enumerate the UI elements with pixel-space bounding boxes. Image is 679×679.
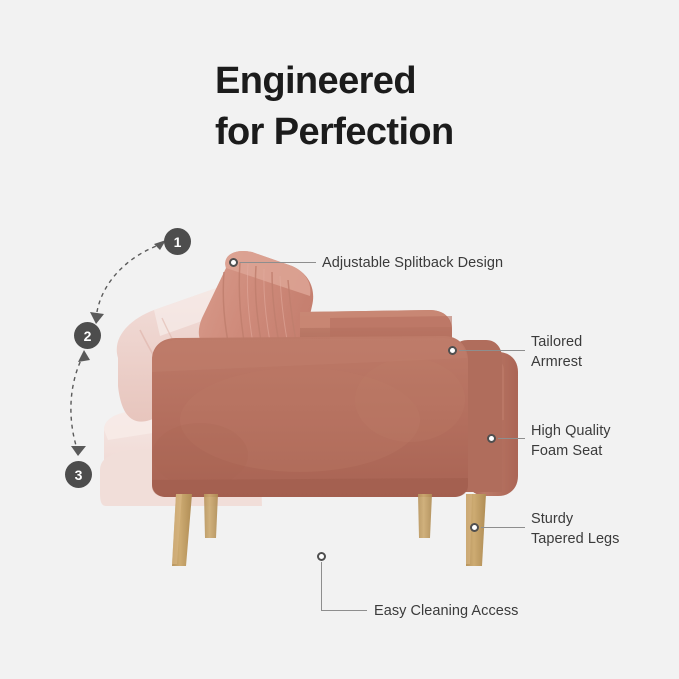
infographic-canvas: Engineered for Perfection: [0, 0, 679, 679]
callout-marker-foam-seat[interactable]: [487, 434, 496, 443]
callout-marker-tapered-legs[interactable]: [470, 523, 479, 532]
leader-line-cleaning-horizontal: [321, 610, 367, 611]
leader-line-splitback: [240, 262, 316, 263]
callout-marker-armrest[interactable]: [448, 346, 457, 355]
callout-marker-cleaning-access[interactable]: [317, 552, 326, 561]
callout-label-cleaning-access: Easy Cleaning Access: [374, 602, 518, 622]
callout-label-splitback: Adjustable Splitback Design: [322, 254, 503, 274]
step-badge-2[interactable]: 2: [74, 322, 101, 349]
callout-label-armrest: Tailored Armrest: [531, 333, 582, 373]
callout-label-tapered-legs: Sturdy Tapered Legs: [531, 510, 619, 550]
leader-line-cleaning-vertical: [321, 562, 322, 610]
callout-label-foam-seat: High Quality Foam Seat: [531, 422, 611, 462]
leader-line-foam-seat: [498, 438, 525, 439]
leader-line-tapered-legs: [481, 527, 525, 528]
callout-marker-splitback[interactable]: [229, 258, 238, 267]
leader-line-armrest: [459, 350, 525, 351]
step-badge-3[interactable]: 3: [65, 461, 92, 488]
step-badge-1[interactable]: 1: [164, 228, 191, 255]
